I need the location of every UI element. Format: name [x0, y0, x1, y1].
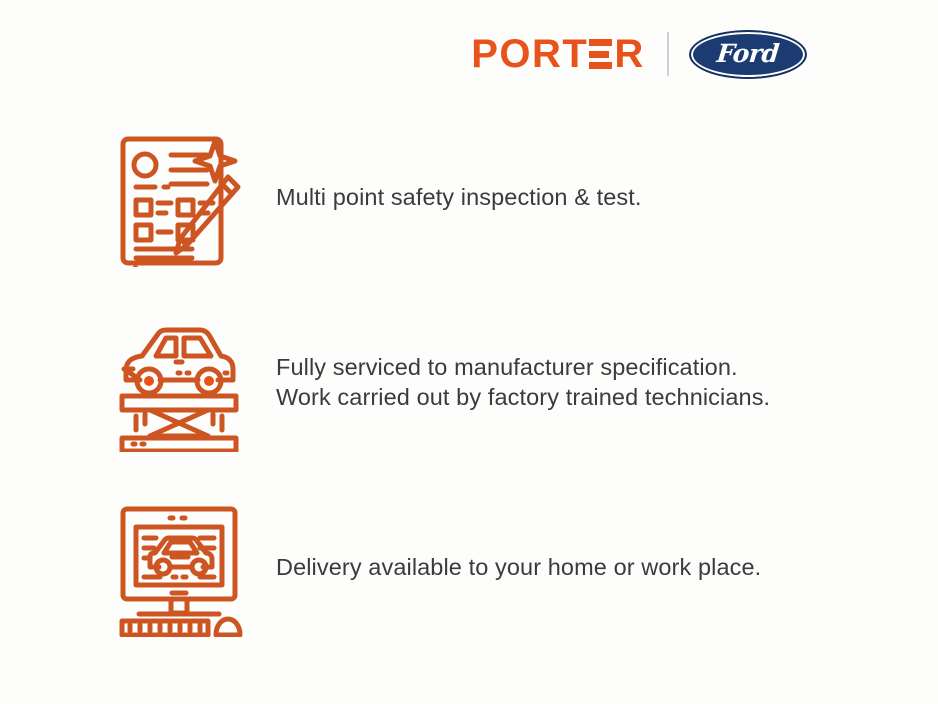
ford-logo-icon: Ford: [689, 30, 807, 79]
porter-wordmark-part-1: PORT: [471, 34, 588, 74]
feature-row: Multi point safety inspection & test.: [0, 104, 938, 289]
feature-list: Multi point safety inspection & test.: [0, 104, 938, 659]
feature-row: Delivery available to your home or work …: [0, 474, 938, 659]
ford-logo-label: Ford: [716, 41, 780, 66]
porter-wordmark: PORT R: [471, 34, 645, 74]
brand-lockup: PORT R Ford: [471, 30, 807, 79]
computer-delivery-icon: [114, 497, 244, 637]
brand-header: PORT R Ford: [0, 24, 938, 84]
feature-text: Fully serviced to manufacturer specifica…: [276, 352, 770, 412]
feature-row: Fully serviced to manufacturer specifica…: [0, 289, 938, 474]
clipboard-inspection-icon: [114, 127, 244, 267]
porter-wordmark-part-2: R: [614, 34, 644, 74]
feature-text: Delivery available to your home or work …: [276, 552, 761, 582]
car-on-lift-icon: [114, 312, 244, 452]
porter-stylized-e-icon: [589, 39, 612, 69]
brand-divider: [667, 32, 669, 76]
feature-text: Multi point safety inspection & test.: [276, 182, 642, 212]
